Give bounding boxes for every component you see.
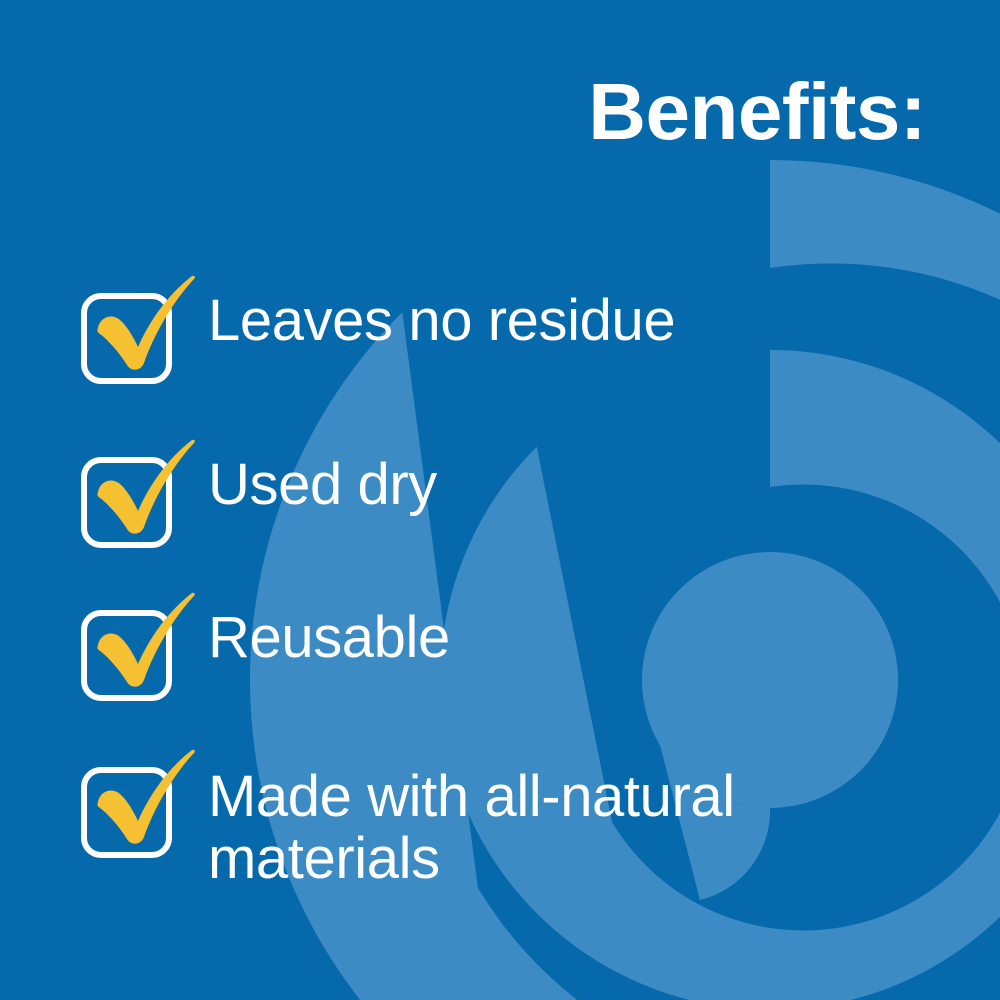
- checkbox-checked-icon: [80, 432, 200, 550]
- checkbox-checked-icon: [80, 742, 200, 860]
- benefit-label: Used dry: [208, 432, 437, 516]
- benefit-item: Leaves no residue: [80, 268, 675, 386]
- benefit-label: Made with all-natural materials: [208, 742, 735, 890]
- benefit-item: Used dry: [80, 432, 437, 550]
- benefits-list: Leaves no residue Used dry Reusable: [0, 0, 1000, 1000]
- checkbox-checked-icon: [80, 268, 200, 386]
- benefit-label: Reusable: [208, 585, 450, 669]
- benefit-item: Reusable: [80, 585, 450, 703]
- benefits-graphic: Benefits: Leaves no residue Used dry: [0, 0, 1000, 1000]
- benefit-item: Made with all-natural materials: [80, 742, 735, 890]
- checkbox-checked-icon: [80, 585, 200, 703]
- benefit-label: Leaves no residue: [208, 268, 675, 352]
